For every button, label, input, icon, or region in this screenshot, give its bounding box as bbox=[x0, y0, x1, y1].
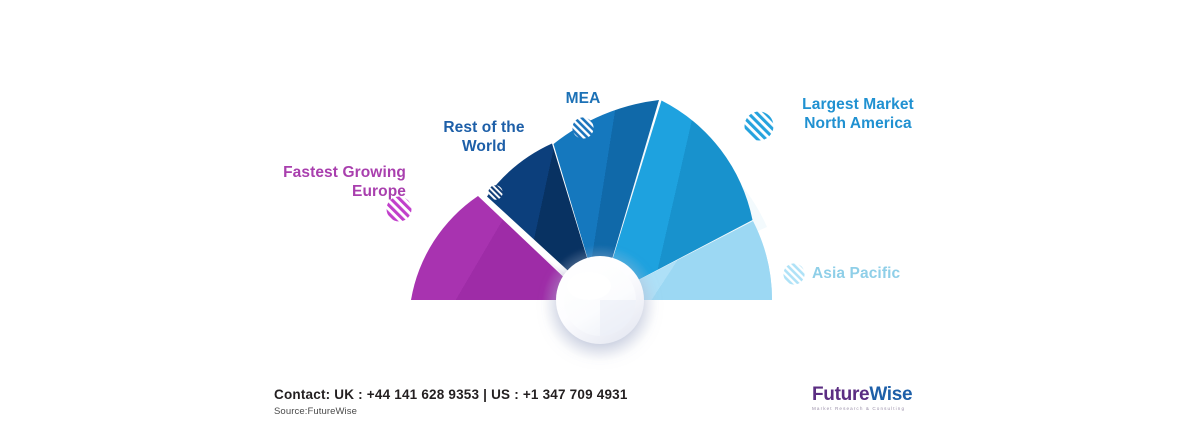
infographic-canvas: Fastest Growing Europe Rest of the World… bbox=[0, 0, 1200, 428]
label-north-america: Largest Market North America bbox=[768, 95, 948, 134]
logo-tagline: Market Research & Consulting bbox=[812, 406, 932, 411]
legend-marker-europe-icon bbox=[386, 196, 412, 222]
label-asia-pacific-line1: Asia Pacific bbox=[812, 264, 962, 283]
label-mea: MEA bbox=[521, 89, 645, 108]
legend-marker-mea-icon bbox=[572, 117, 594, 139]
legend-marker-north-america-icon bbox=[744, 111, 774, 141]
footer-source-line: Source:FutureWise bbox=[274, 406, 357, 417]
label-rest-of-world: Rest of the World bbox=[404, 118, 564, 157]
label-rest-of-world-line1: Rest of the bbox=[404, 118, 564, 137]
logo-word-future: Future bbox=[812, 384, 869, 405]
center-hub bbox=[556, 256, 644, 344]
label-mea-line1: MEA bbox=[521, 89, 645, 108]
label-europe-line2: Europe bbox=[246, 182, 406, 201]
label-rest-of-world-line2: World bbox=[404, 137, 564, 156]
label-north-america-line2: North America bbox=[768, 114, 948, 133]
futurewise-logo[interactable]: FutureWise Market Research & Consulting bbox=[812, 385, 932, 419]
regional-share-fan-chart bbox=[0, 0, 1200, 428]
label-europe: Fastest Growing Europe bbox=[246, 163, 406, 202]
label-asia-pacific: Asia Pacific bbox=[812, 264, 962, 283]
legend-marker-rest-of-world-icon bbox=[488, 185, 503, 200]
label-north-america-line1: Largest Market bbox=[768, 95, 948, 114]
legend-marker-asia-pacific-icon bbox=[783, 263, 805, 285]
label-europe-line1: Fastest Growing bbox=[246, 163, 406, 182]
logo-word-wise: Wise bbox=[869, 384, 912, 405]
logo-wordmark: FutureWise bbox=[812, 385, 932, 404]
footer-contact-line: Contact: UK : +44 141 628 9353 | US : +1… bbox=[274, 387, 628, 402]
